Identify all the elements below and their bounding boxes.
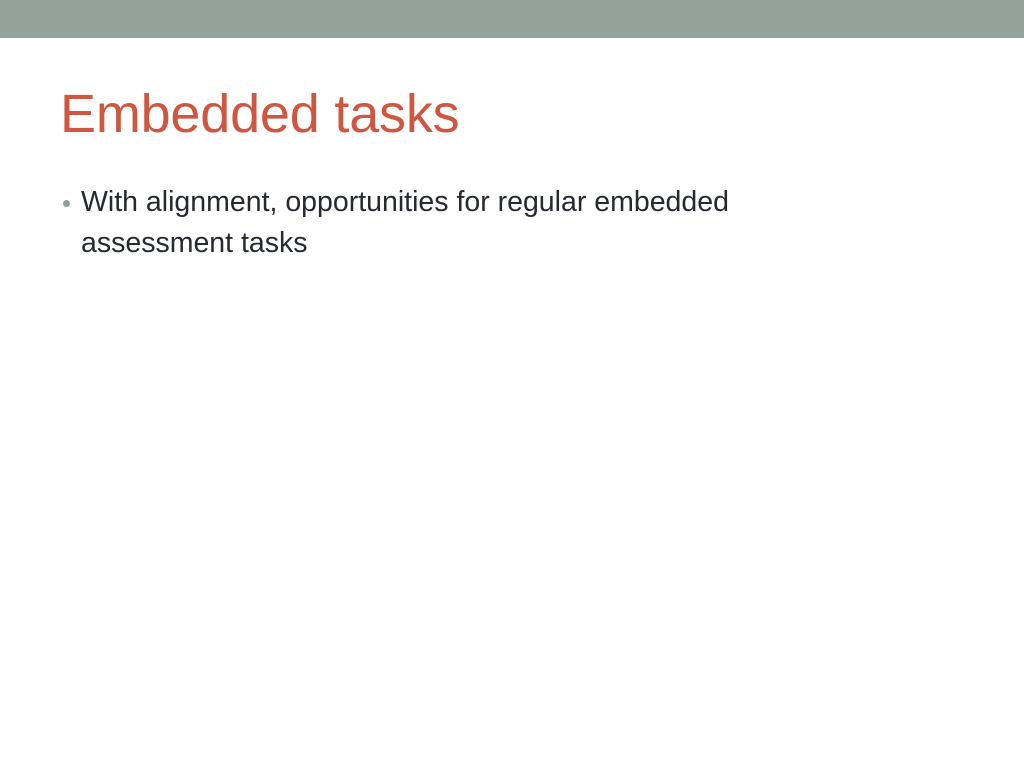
page-title: Embedded tasks [60, 84, 960, 144]
slide-body: With alignment, opportunities for regula… [60, 182, 940, 270]
bullet-point-icon [63, 200, 70, 207]
presentation-slide: Embedded tasks With alignment, opportuni… [0, 0, 1024, 768]
list-item: With alignment, opportunities for regula… [60, 182, 881, 264]
bullet-list: With alignment, opportunities for regula… [60, 182, 940, 264]
slide-top-banner [0, 0, 1024, 38]
list-item-label: With alignment, opportunities for regula… [81, 182, 881, 264]
